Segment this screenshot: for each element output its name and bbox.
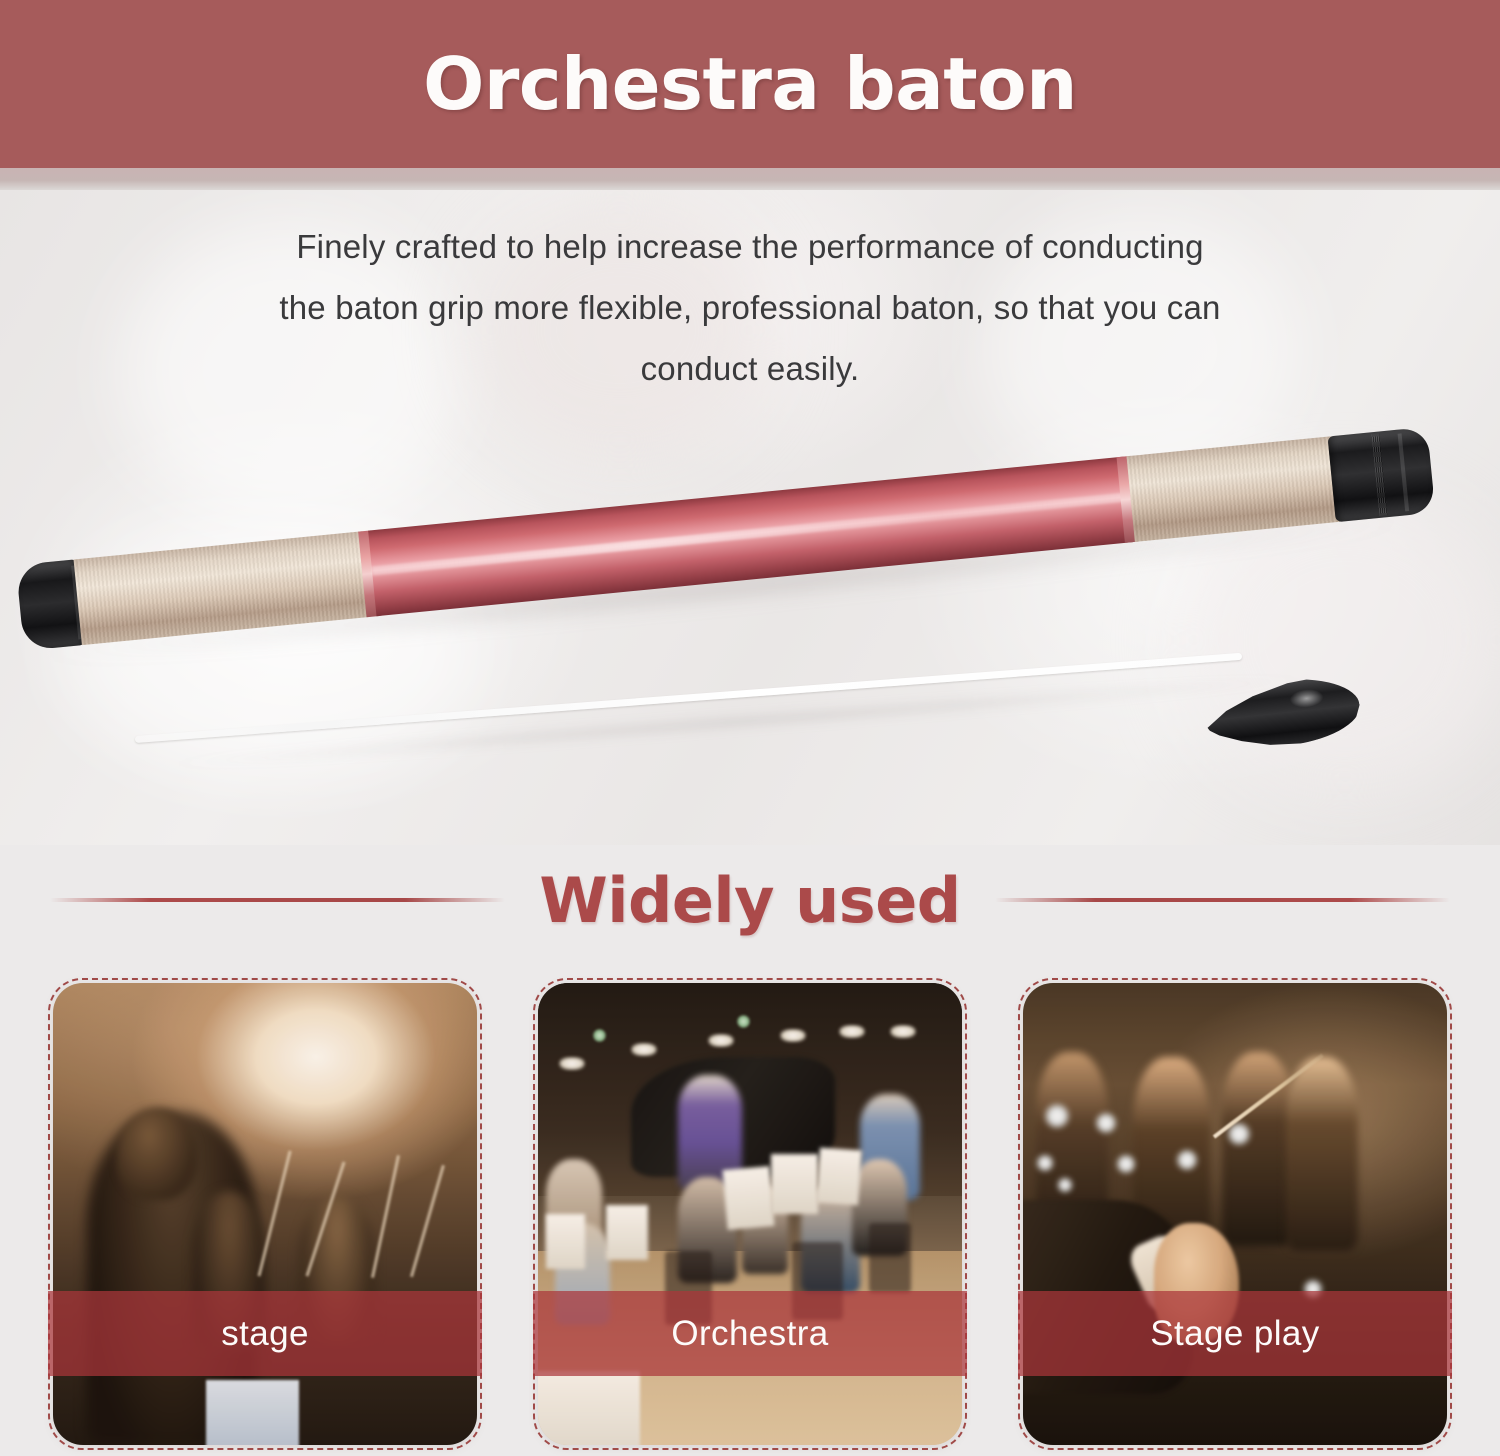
product-description: Finely crafted to help increase the perf… [160,216,1340,399]
divider-line-right [995,898,1450,902]
divider-line-left [50,898,505,902]
card-label-text: Stage play [1150,1314,1319,1354]
card-label-band: Orchestra [533,1291,967,1376]
use-case-card[interactable]: Orchestra [538,983,962,1445]
tube-end-cap-right [1328,427,1436,522]
description-line-1: Finely crafted to help increase the perf… [160,216,1340,277]
use-case-card[interactable]: Stage play [1023,983,1447,1445]
card-label-band: stage [48,1291,482,1376]
description-line-3: conduct easily. [160,338,1340,399]
header-accent-strip [0,168,1500,190]
description-line-2: the baton grip more flexible, profession… [160,277,1340,338]
hero-section: Finely crafted to help increase the perf… [0,190,1500,845]
page-title: Orchestra baton [423,42,1077,126]
section-title: Widely used [539,864,960,937]
widely-used-heading: Widely used [0,845,1500,955]
use-case-card-grid: stage [0,975,1500,1456]
header-band: Orchestra baton [0,0,1500,168]
use-case-card[interactable]: stage [53,983,477,1445]
card-label-text: stage [221,1314,309,1354]
card-label-text: Orchestra [671,1314,828,1354]
card-label-band: Stage play [1018,1291,1452,1376]
product-photo [0,440,1500,845]
product-infographic-page: Orchestra baton Finely crafted to help i… [0,0,1500,1456]
